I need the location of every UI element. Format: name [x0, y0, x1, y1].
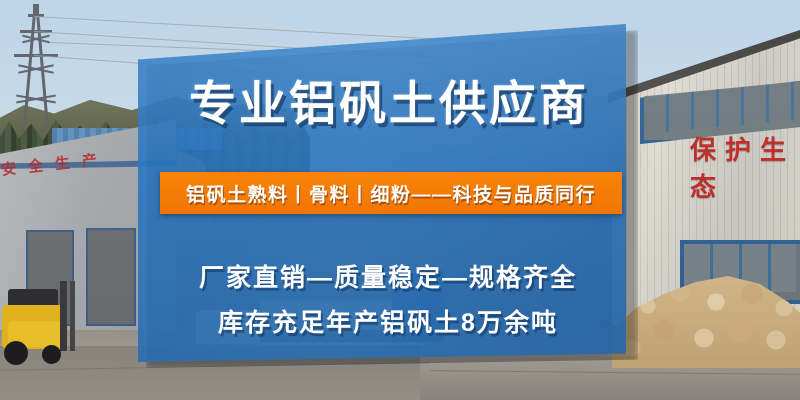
orange-tagline-bar: 铝矾土熟料丨骨料丨细粉——科技与品质同行: [160, 172, 622, 214]
banner-subtitle-line-1: 厂家直销—质量稳定—规格齐全: [0, 258, 776, 294]
banner-subtitle-line-2: 库存充足年产铝矾土8万余吨: [0, 303, 776, 339]
banner-text-layer: 专业铝矾土供应商 铝矾土熟料丨骨料丨细粉——科技与品质同行 厂家直销—质量稳定—…: [0, 0, 800, 400]
banner-headline: 专业铝矾土供应商: [0, 80, 778, 127]
promo-banner: 安全生产 保护生态: [0, 0, 800, 400]
orange-tagline-text: 铝矾土熟料丨骨料丨细粉——科技与品质同行: [186, 180, 596, 207]
